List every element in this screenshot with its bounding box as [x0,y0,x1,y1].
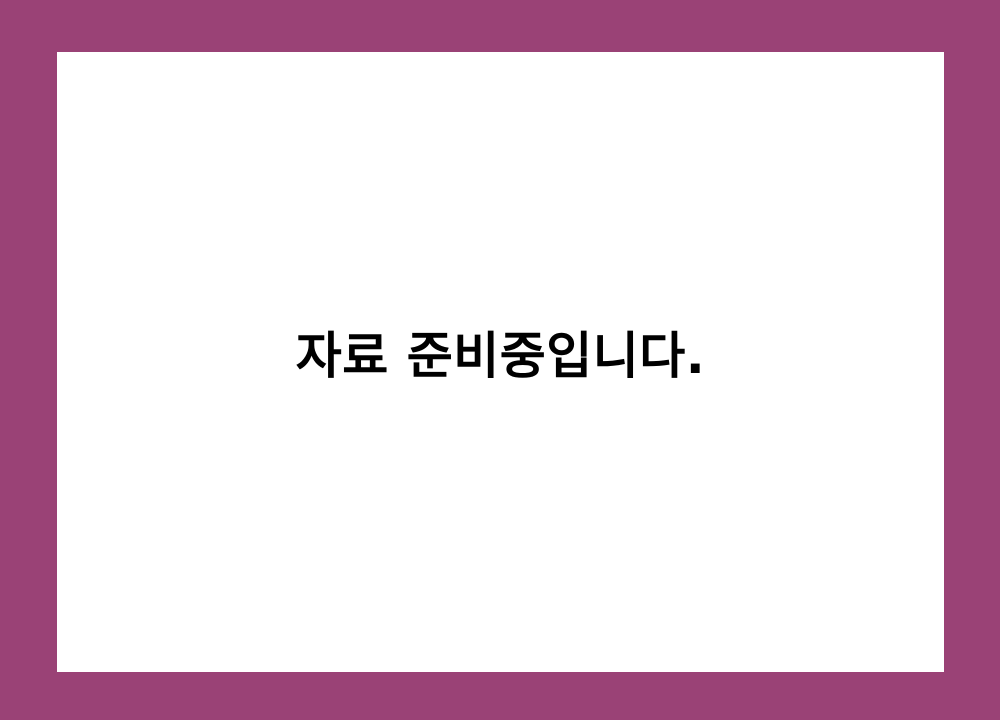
content-panel: 자료 준비중입니다. [57,52,944,672]
placeholder-message: 자료 준비중입니다. [296,328,705,384]
message-block: 자료 준비중입니다. [57,328,944,384]
placeholder-screen: 자료 준비중입니다. [0,0,1000,720]
